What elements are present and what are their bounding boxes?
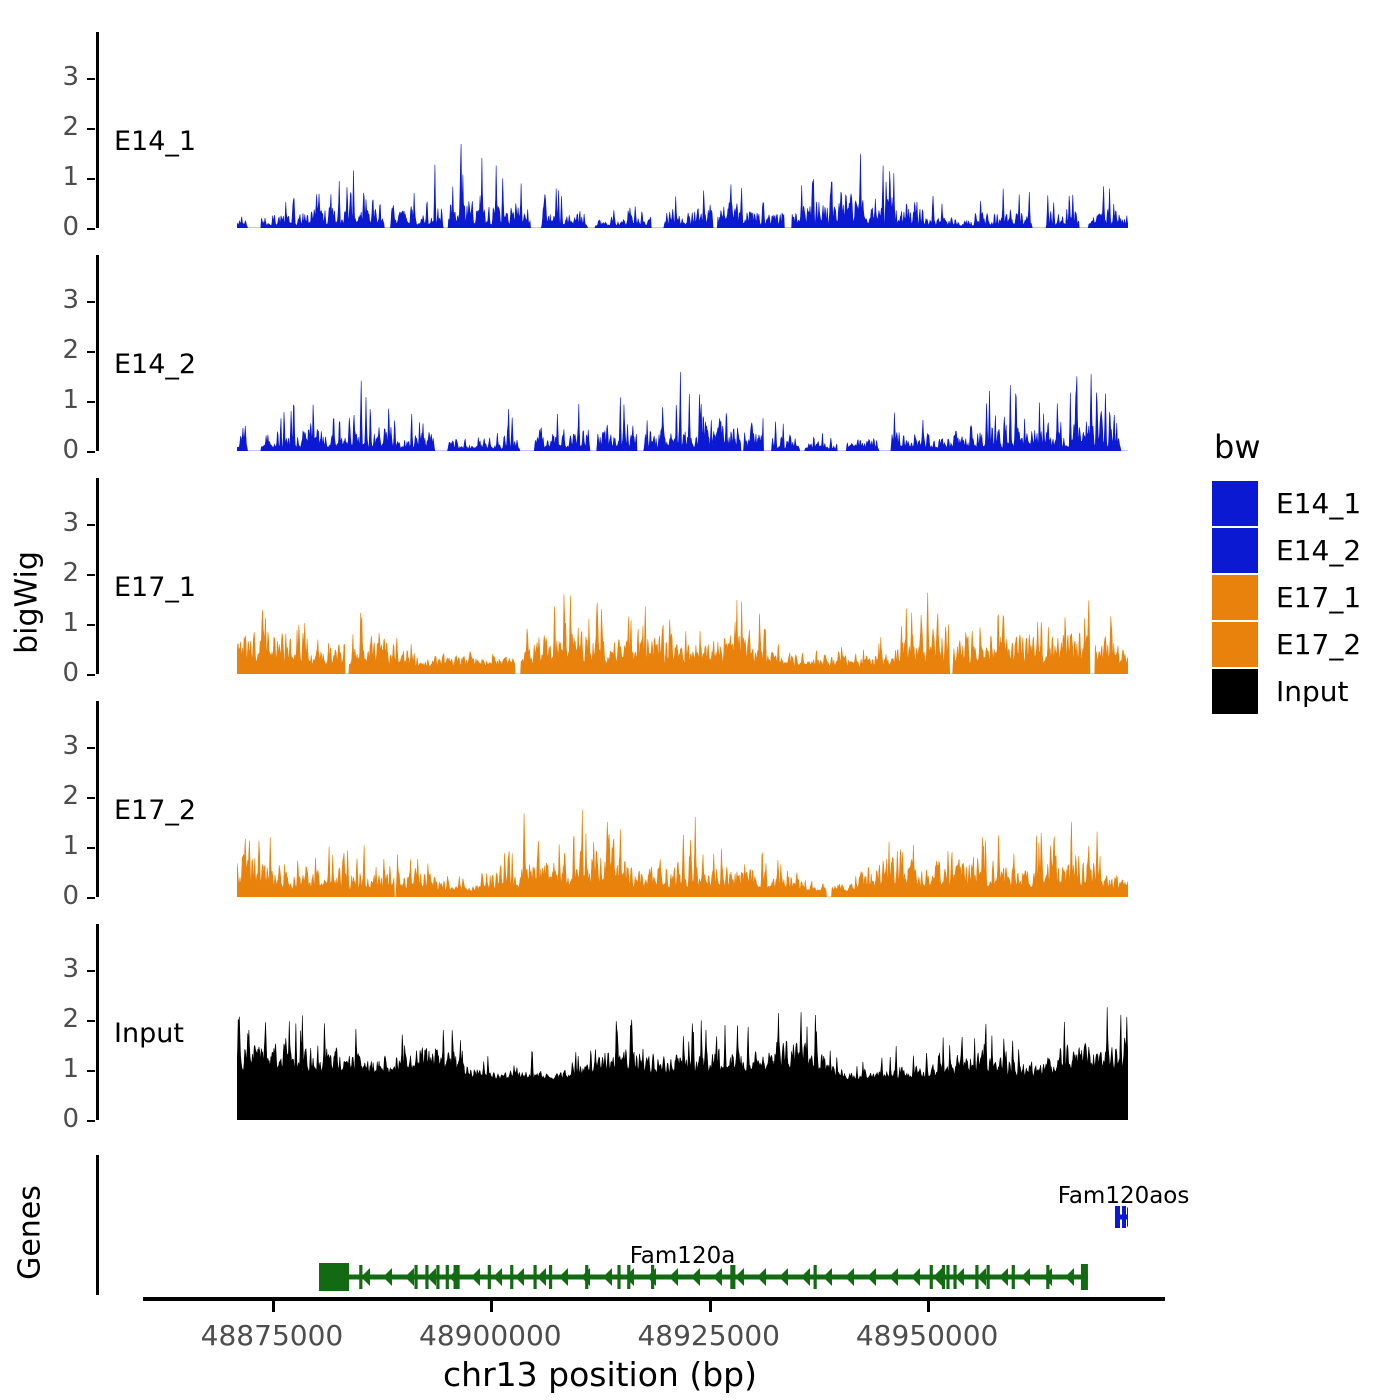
signal-area-e14_1 — [237, 32, 1128, 228]
track-panel-e17_2: 0123E17_2 — [0, 701, 1200, 897]
x-axis-tick — [927, 1301, 930, 1312]
y-axis-tick-label: 3 — [19, 733, 79, 759]
track-label-e17_1: E17_1 — [114, 572, 196, 603]
track-label-e14_2: E14_2 — [114, 349, 196, 380]
genome-browser-figure: bigWig Genes 0123E14_10123E14_20123E17_1… — [0, 0, 1400, 1400]
y-axis-tick-label: 3 — [19, 64, 79, 90]
legend-swatch-icon — [1212, 528, 1258, 573]
track-label-e14_1: E14_1 — [114, 126, 196, 157]
y-axis-tick — [87, 78, 95, 80]
y-axis-tick-label: 3 — [19, 510, 79, 536]
y-axis-tick-label: 2 — [19, 1006, 79, 1032]
y-axis-tick — [87, 1120, 95, 1122]
y-axis-line — [96, 701, 99, 897]
x-axis-line — [143, 1297, 1165, 1301]
y-axis-tick-label: 0 — [19, 883, 79, 909]
x-axis-tick-label: 48875000 — [201, 1319, 344, 1352]
y-axis-tick — [87, 301, 95, 303]
y-axis-tick-label: 1 — [19, 610, 79, 636]
gene-track-axis-line — [96, 1155, 99, 1295]
legend-item-input[interactable]: Input — [1212, 668, 1361, 715]
y-axis-tick — [87, 970, 95, 972]
y-axis-tick — [87, 1070, 95, 1072]
x-axis-title: chr13 position (bp) — [0, 1355, 1200, 1394]
y-axis-tick-label: 0 — [19, 437, 79, 463]
y-axis-line — [96, 255, 99, 451]
legend-label: E17_1 — [1276, 581, 1361, 614]
y-axis-line — [96, 478, 99, 674]
y-axis-tick-label: 1 — [19, 164, 79, 190]
gene-models-area — [237, 1155, 1128, 1295]
legend-label: E14_2 — [1276, 534, 1361, 567]
y-axis-tick — [87, 228, 95, 230]
gene-track-panel — [0, 1155, 1200, 1295]
gene-label-fam120a: Fam120a — [630, 1243, 736, 1269]
legend-swatch-icon — [1212, 669, 1258, 714]
x-axis-tick-label: 48925000 — [637, 1319, 780, 1352]
signal-area-e14_2 — [237, 255, 1128, 451]
y-axis-line — [96, 924, 99, 1120]
x-axis-tick-label: 48950000 — [856, 1319, 999, 1352]
x-axis-tick — [272, 1301, 275, 1312]
track-panel-e14_1: 0123E14_1 — [0, 32, 1200, 228]
y-axis-tick-label: 0 — [19, 214, 79, 240]
y-axis-tick — [87, 747, 95, 749]
y-axis-tick — [87, 674, 95, 676]
y-axis-tick — [87, 797, 95, 799]
y-axis-tick — [87, 1020, 95, 1022]
y-axis-tick — [87, 401, 95, 403]
y-axis-tick — [87, 451, 95, 453]
y-axis-line — [96, 32, 99, 228]
signal-area-e17_1 — [237, 478, 1128, 674]
y-axis-tick — [87, 897, 95, 899]
legend-label: E14_1 — [1276, 487, 1361, 520]
y-axis-tick-label: 3 — [19, 956, 79, 982]
y-axis-tick-label: 2 — [19, 783, 79, 809]
y-axis-tick-label: 0 — [19, 660, 79, 686]
legend-label: E17_2 — [1276, 628, 1361, 661]
legend-items: E14_1E14_2E17_1E17_2Input — [1212, 480, 1361, 715]
y-axis-tick — [87, 351, 95, 353]
track-panel-input: 0123Input — [0, 924, 1200, 1120]
track-panel-e14_2: 0123E14_2 — [0, 255, 1200, 451]
x-axis-tick — [709, 1301, 712, 1312]
y-axis-tick-label: 1 — [19, 387, 79, 413]
track-label-input: Input — [114, 1018, 184, 1049]
y-axis-tick-label: 1 — [19, 1056, 79, 1082]
signal-area-e17_2 — [237, 701, 1128, 897]
y-axis-tick — [87, 128, 95, 130]
y-axis-tick-label: 3 — [19, 287, 79, 313]
gene-label-fam120aos: Fam120aos — [1058, 1183, 1190, 1209]
legend-item-e14_2[interactable]: E14_2 — [1212, 527, 1361, 574]
y-axis-tick — [87, 624, 95, 626]
y-axis-tick — [87, 574, 95, 576]
signal-area-input — [237, 924, 1128, 1120]
legend-label: Input — [1276, 675, 1349, 708]
x-axis-tick-label: 48900000 — [419, 1319, 562, 1352]
track-panel-e17_1: 0123E17_1 — [0, 478, 1200, 674]
x-axis-tick — [490, 1301, 493, 1312]
track-label-e17_2: E17_2 — [114, 795, 196, 826]
y-axis-tick-label: 2 — [19, 337, 79, 363]
legend-item-e17_1[interactable]: E17_1 — [1212, 574, 1361, 621]
legend-item-e17_2[interactable]: E17_2 — [1212, 621, 1361, 668]
y-axis-tick-label: 0 — [19, 1106, 79, 1132]
y-axis-tick-label: 2 — [19, 560, 79, 586]
y-axis-tick — [87, 847, 95, 849]
y-axis-tick — [87, 524, 95, 526]
legend: bw E14_1E14_2E17_1E17_2Input — [1212, 428, 1361, 715]
y-axis-tick-label: 1 — [19, 833, 79, 859]
legend-swatch-icon — [1212, 575, 1258, 620]
legend-swatch-icon — [1212, 622, 1258, 667]
legend-item-e14_1[interactable]: E14_1 — [1212, 480, 1361, 527]
legend-swatch-icon — [1212, 481, 1258, 526]
y-axis-tick-label: 2 — [19, 114, 79, 140]
legend-title: bw — [1214, 428, 1361, 466]
y-axis-tick — [87, 178, 95, 180]
